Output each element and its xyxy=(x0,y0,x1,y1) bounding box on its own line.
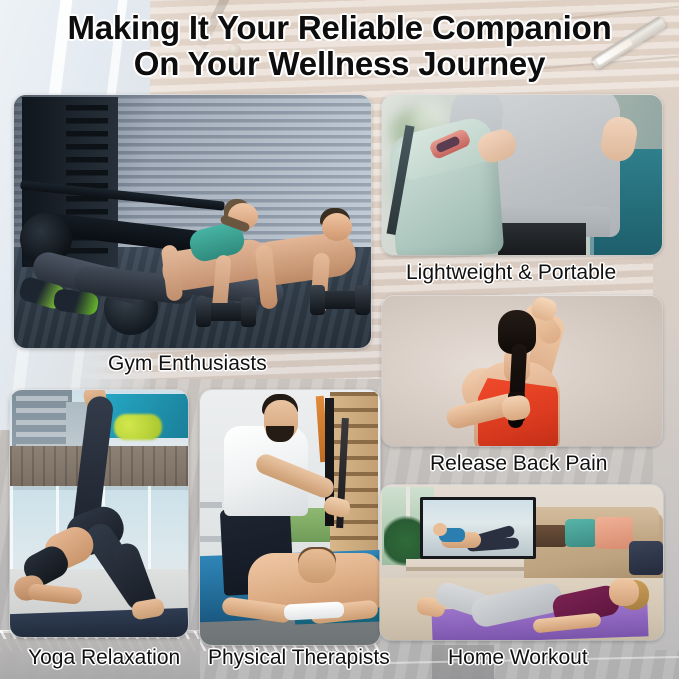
dumbbell xyxy=(200,303,252,321)
photo-panel-gym[interactable] xyxy=(14,95,371,348)
photo-panel-yoga[interactable] xyxy=(10,390,188,637)
caption-backpack: Lightweight & Portable xyxy=(406,261,616,285)
caption-physical-therapists: Physical Therapists xyxy=(208,646,390,670)
caption-gym: Gym Enthusiasts xyxy=(108,352,267,376)
television xyxy=(420,497,536,559)
photo-panel-home-workout[interactable] xyxy=(380,485,663,640)
back-pain-scene xyxy=(382,296,662,446)
home-workout-scene xyxy=(380,485,663,640)
tv-figure-head xyxy=(433,523,447,536)
wall-bars xyxy=(330,392,378,552)
caption-back-pain: Release Back Pain xyxy=(430,452,607,476)
caption-home-workout: Home Workout xyxy=(448,646,588,670)
black-leggings xyxy=(498,223,586,255)
therapy-scene xyxy=(200,390,380,645)
patient-head xyxy=(298,549,336,583)
white-towel xyxy=(284,601,345,620)
yoga-scene xyxy=(10,390,188,637)
promo-poster: Making It Your Reliable Companion On You… xyxy=(0,0,679,679)
tv-screen xyxy=(423,500,533,556)
title-line-1: Making It Your Reliable Companion xyxy=(67,9,611,46)
page-title: Making It Your Reliable Companion On You… xyxy=(0,10,679,82)
left-rail xyxy=(200,502,222,508)
dumbbell-2 xyxy=(314,291,366,309)
man-head xyxy=(322,213,352,241)
backpack-scene xyxy=(382,95,662,255)
photo-panel-backpack[interactable] xyxy=(382,95,662,255)
photo-panel-back-pain[interactable] xyxy=(382,296,662,446)
home-figure-head xyxy=(609,578,639,606)
cushion-peach xyxy=(595,517,633,549)
gym-scene xyxy=(14,95,371,348)
cushion-teal xyxy=(565,519,597,547)
background-foliage xyxy=(114,414,162,440)
cushion-navy xyxy=(629,541,663,575)
photo-panel-physical-therapist[interactable] xyxy=(200,390,380,645)
left-rail-2 xyxy=(200,536,222,542)
title-line-2: On Your Wellness Journey xyxy=(0,46,679,82)
caption-yoga: Yoga Relaxation xyxy=(28,646,180,670)
